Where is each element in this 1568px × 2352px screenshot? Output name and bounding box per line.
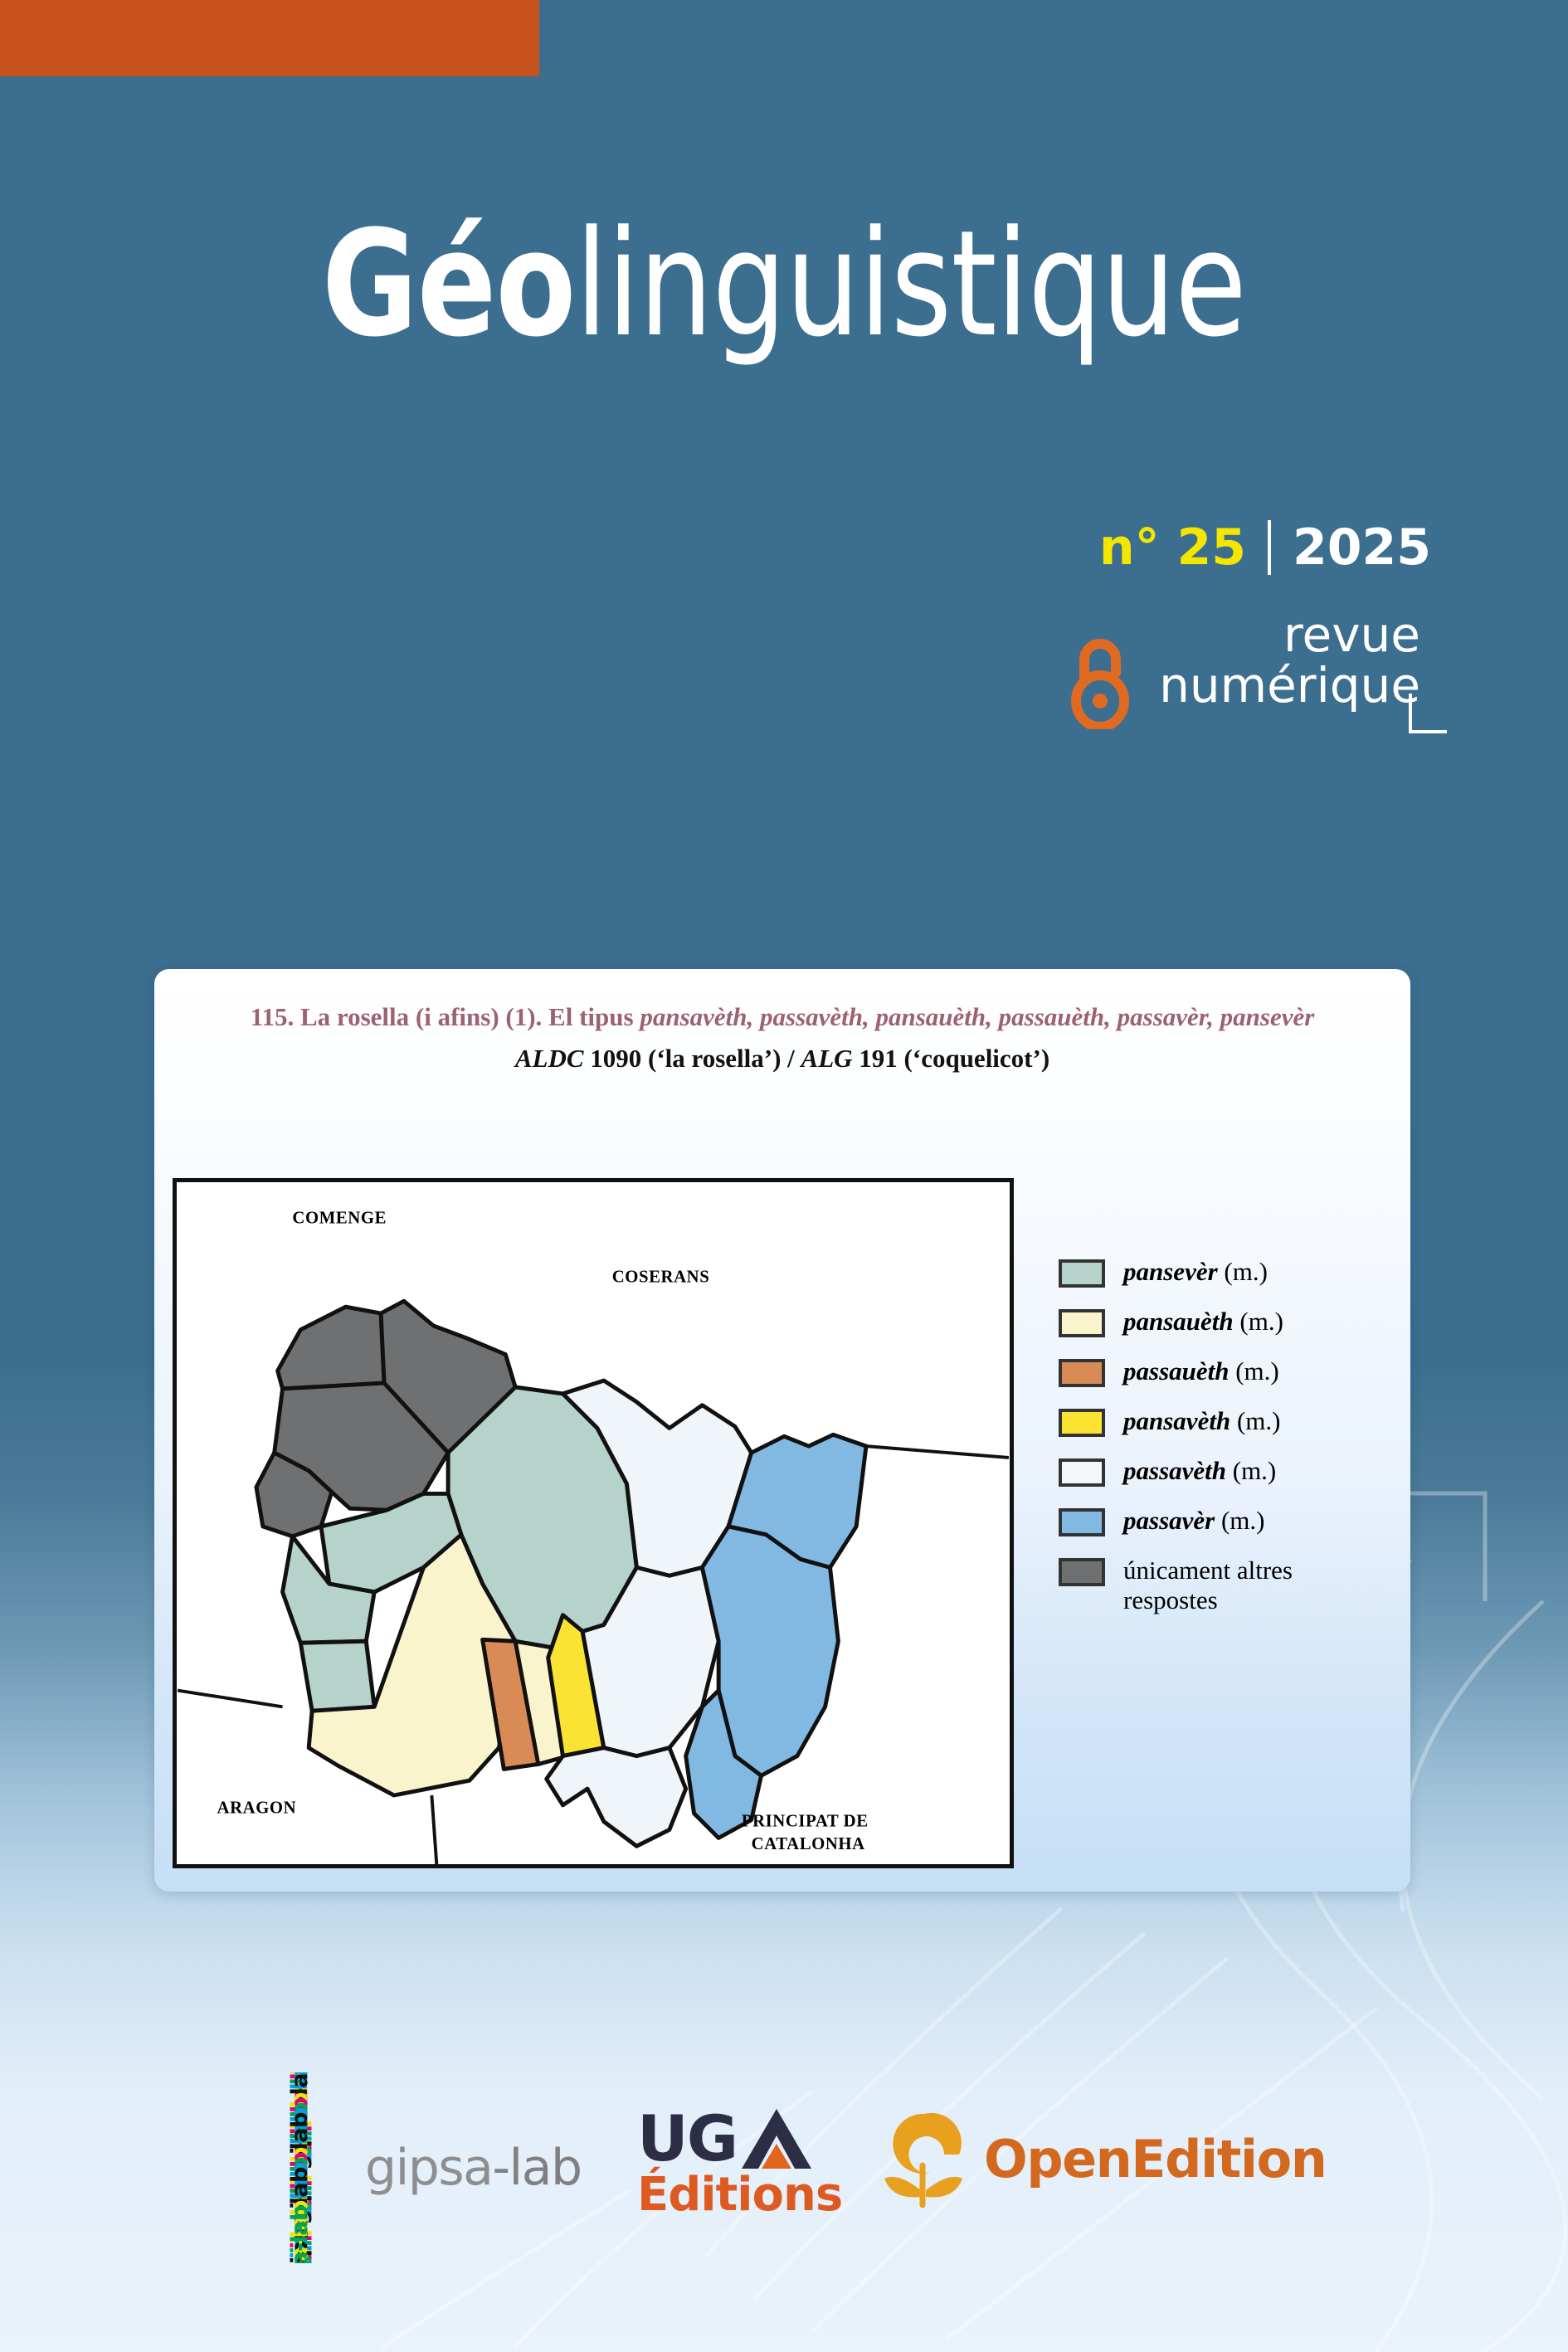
uga-letter-g: G bbox=[687, 2109, 737, 2168]
legend-term: pansevèr bbox=[1123, 1257, 1218, 1286]
source-alg: ALG bbox=[801, 1044, 853, 1073]
legend-label-pansever: pansevèr (m.) bbox=[1123, 1256, 1268, 1287]
uga-top-row: U G bbox=[637, 2107, 842, 2170]
uga-triangle-a-icon bbox=[740, 2107, 813, 2170]
legend-label-altres: únicament altres respostes bbox=[1123, 1555, 1382, 1615]
map-label-principat: PRINCIPAT DE bbox=[742, 1813, 869, 1831]
legend-gender: (m.) bbox=[1215, 1506, 1264, 1535]
legend-gender: (m.) bbox=[1234, 1307, 1283, 1336]
open-access-lock-icon bbox=[1064, 630, 1136, 729]
legend-term: passavèr bbox=[1123, 1506, 1215, 1535]
map-region-altres-1 bbox=[278, 1307, 384, 1389]
svg-text:gipsa-lab: gipsa-lab bbox=[287, 2205, 313, 2263]
map-legend: pansevèr (m.) pansauèth (m.) passauèth (… bbox=[1059, 1256, 1382, 1634]
legend-label-passaveth: passavèth (m.) bbox=[1123, 1455, 1276, 1486]
legend-item: pansauèth (m.) bbox=[1059, 1306, 1382, 1337]
legend-swatch-altres bbox=[1059, 1558, 1105, 1586]
map-border-catalonha bbox=[431, 1795, 436, 1864]
gipsa-lab-logo: gipsa-lab gipsa-lab gipsa-lab gipsa-lab … bbox=[267, 2072, 582, 2263]
map-label-aragon: ARAGON bbox=[217, 1799, 297, 1818]
legend-swatch-passaver bbox=[1059, 1508, 1105, 1536]
map-label-coserans: COSERANS bbox=[612, 1269, 710, 1287]
openedition-wordmark: OpenEdition bbox=[984, 2129, 1326, 2189]
lab-word: -lab bbox=[492, 2139, 581, 2197]
journal-title-linguistique: linguistique bbox=[575, 199, 1246, 369]
legend-label-pansaueth: pansauèth (m.) bbox=[1123, 1306, 1283, 1337]
legend-item: passavèr (m.) bbox=[1059, 1505, 1382, 1536]
issue-line: n° 25 2025 bbox=[1099, 519, 1431, 577]
legend-term: passavèth bbox=[1123, 1456, 1226, 1485]
legend-item: pansavèth (m.) bbox=[1059, 1405, 1382, 1437]
issue-separator bbox=[1268, 520, 1271, 575]
legend-gender: (m.) bbox=[1230, 1406, 1280, 1435]
source-aldc-ref: 1090 (‘la rosella’) / bbox=[584, 1044, 801, 1073]
corner-bracket-mark bbox=[1409, 694, 1447, 733]
map-title-primary: 115. La rosella (i afins) (1). El tipus … bbox=[206, 1001, 1359, 1034]
map-title-roman: 115. La rosella (i afins) (1). El tipus bbox=[251, 1002, 640, 1031]
uga-editions-word: Éditions bbox=[637, 2172, 842, 2218]
legend-swatch-pansaueth bbox=[1059, 1309, 1105, 1337]
legend-swatch-passaveth bbox=[1059, 1458, 1105, 1487]
revue-numerique-block: revue numérique bbox=[1064, 610, 1429, 729]
legend-gender: (m.) bbox=[1229, 1356, 1278, 1385]
legend-item: pansevèr (m.) bbox=[1059, 1256, 1382, 1288]
legend-item: únicament altres respostes bbox=[1059, 1555, 1382, 1615]
map-border-aragon bbox=[178, 1691, 282, 1707]
journal-title-geo: Géo bbox=[322, 199, 575, 369]
legend-label-pansaveth: pansavèth (m.) bbox=[1123, 1405, 1280, 1436]
source-aldc: ALDC bbox=[515, 1044, 584, 1073]
map-label-comenge: COMENGE bbox=[292, 1209, 387, 1227]
map-title-italic: pansavèth, passavèth, pansauèth, passauè… bbox=[640, 1002, 1314, 1031]
gipsa-spiral-icon: gipsa-lab gipsa-lab gipsa-lab gipsa-lab … bbox=[267, 2072, 347, 2263]
issue-number: n° 25 bbox=[1099, 519, 1246, 577]
legend-gender: (m.) bbox=[1226, 1456, 1276, 1485]
gipsa-lab-wordmark: gipsa-lab bbox=[365, 2139, 582, 2197]
legend-term: pansauèth bbox=[1123, 1307, 1234, 1336]
source-alg-ref: 191 (‘coquelicot’) bbox=[853, 1044, 1050, 1073]
numerique-line: numérique bbox=[1159, 660, 1420, 711]
legend-label-passaver: passavèr (m.) bbox=[1123, 1505, 1264, 1536]
orange-corner-block bbox=[0, 0, 539, 76]
map-region-passaveth-south bbox=[547, 1748, 686, 1847]
map-card: 115. La rosella (i afins) (1). El tipus … bbox=[154, 969, 1410, 1892]
journal-title: Géolinguistique bbox=[157, 212, 1411, 358]
map-label-catalonha: CATALONHA bbox=[752, 1835, 865, 1853]
legend-item: passavèth (m.) bbox=[1059, 1455, 1382, 1487]
legend-gender: (m.) bbox=[1218, 1257, 1268, 1286]
map-border-east bbox=[866, 1446, 1009, 1458]
revue-numerique-text: revue numérique bbox=[1159, 610, 1429, 712]
map-region-pansever-s bbox=[300, 1641, 374, 1711]
dialect-map: COMENGE COSERANS ARAGON PRINCIPAT DE CAT… bbox=[177, 1182, 1010, 1864]
legend-swatch-passaueth bbox=[1059, 1359, 1105, 1387]
legend-item: passauèth (m.) bbox=[1059, 1356, 1382, 1387]
footer-logos: gipsa-lab gipsa-lab gipsa-lab gipsa-lab … bbox=[0, 2049, 1568, 2298]
uga-editions-logo: U G Éditions bbox=[637, 2107, 842, 2218]
openedition-flower-icon bbox=[881, 2109, 967, 2208]
legend-term: passauèth bbox=[1123, 1356, 1229, 1385]
legend-swatch-pansever bbox=[1059, 1259, 1105, 1288]
cover-background: Géolinguistique n° 25 2025 revue numériq… bbox=[0, 0, 1568, 2352]
map-card-title: 115. La rosella (i afins) (1). El tipus … bbox=[154, 969, 1410, 1076]
gipsa-word: gipsa bbox=[365, 2139, 492, 2197]
uga-letter-u: U bbox=[637, 2109, 687, 2168]
openedition-logo: OpenEdition bbox=[881, 2109, 1326, 2208]
revue-line: revue bbox=[1159, 610, 1420, 660]
journal-title-wrap: Géolinguistique bbox=[0, 212, 1568, 358]
legend-swatch-pansaveth bbox=[1059, 1409, 1105, 1437]
map-title-source: ALDC 1090 (‘la rosella’) / ALG 191 (‘coq… bbox=[206, 1042, 1359, 1075]
legend-label-passaueth: passauèth (m.) bbox=[1123, 1356, 1279, 1386]
legend-term: pansavèth bbox=[1123, 1406, 1230, 1435]
map-box: COMENGE COSERANS ARAGON PRINCIPAT DE CAT… bbox=[173, 1178, 1014, 1868]
issue-year: 2025 bbox=[1293, 519, 1431, 577]
